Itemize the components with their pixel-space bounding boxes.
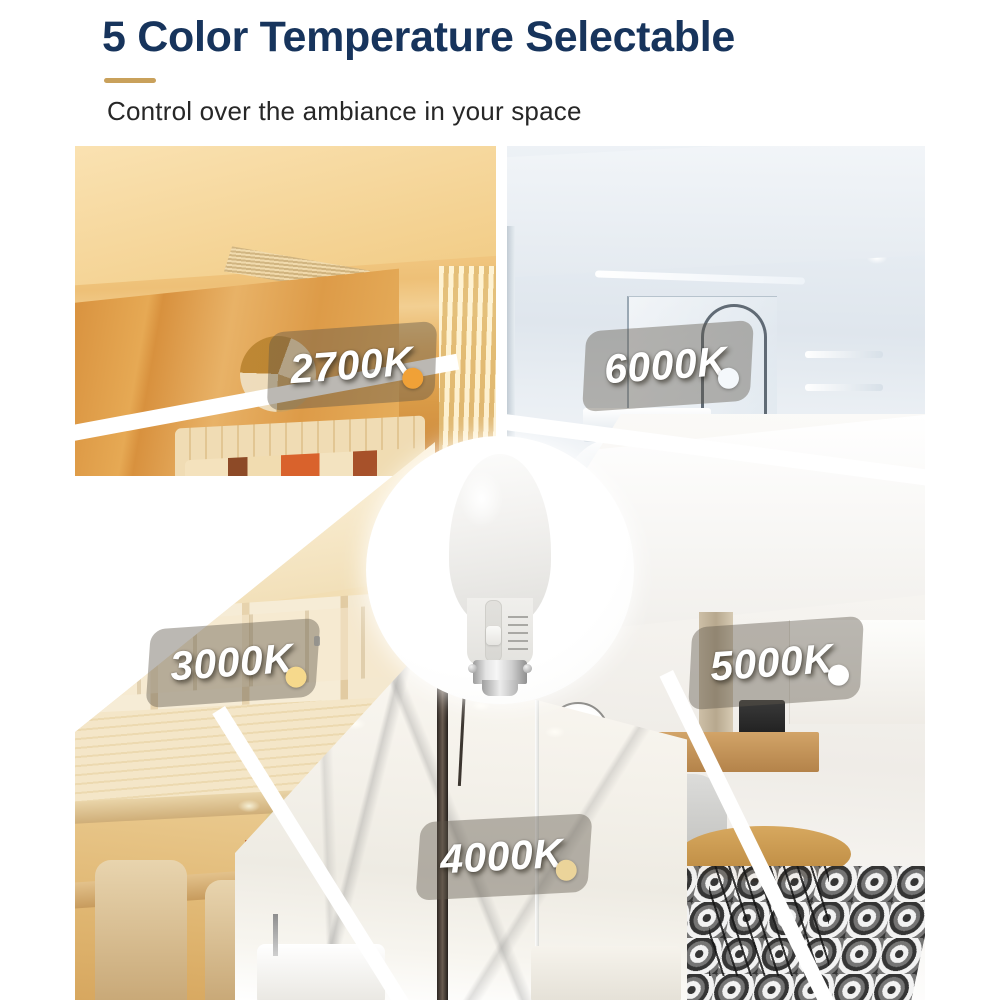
temperature-tag-6000k: 6000K <box>582 320 754 412</box>
temperature-label: 2700K <box>289 341 415 391</box>
dining-chair <box>95 860 187 1000</box>
bulb-contact-base <box>482 680 518 696</box>
temperature-label: 6000K <box>603 341 729 391</box>
bayonet-pin <box>523 664 532 673</box>
temperature-tag-3000k: 3000K <box>145 618 320 708</box>
temperature-label: 3000K <box>169 638 295 688</box>
temperature-label: 4000K <box>439 833 564 880</box>
title-accent-rule <box>104 78 156 83</box>
header: 5 Color Temperature Selectable Control o… <box>0 0 1000 145</box>
page-subtitle: Control over the ambiance in your space <box>107 96 582 127</box>
page-title: 5 Color Temperature Selectable <box>102 13 735 62</box>
ceiling <box>505 146 925 278</box>
bayonet-pin <box>468 664 477 673</box>
linear-light <box>595 270 805 284</box>
wall-shelf <box>805 384 883 391</box>
product-medallion <box>366 436 634 704</box>
panel-divider <box>496 146 507 482</box>
vanity-counter <box>531 946 681 1000</box>
temperature-tag-5000k: 5000K <box>688 616 864 711</box>
slider-tick-marks <box>508 616 528 652</box>
led-bulb <box>438 448 562 698</box>
faucet <box>273 914 278 956</box>
speck <box>314 636 320 646</box>
temperature-label: 5000K <box>709 638 835 688</box>
temperature-tag-2700k: 2700K <box>267 321 437 411</box>
infographic-page: 5 Color Temperature Selectable Control o… <box>0 0 1000 1000</box>
color-temperature-slider-thumb[interactable] <box>486 626 501 645</box>
wall-shelf <box>805 351 883 358</box>
temperature-tag-4000k: 4000K <box>415 813 592 900</box>
